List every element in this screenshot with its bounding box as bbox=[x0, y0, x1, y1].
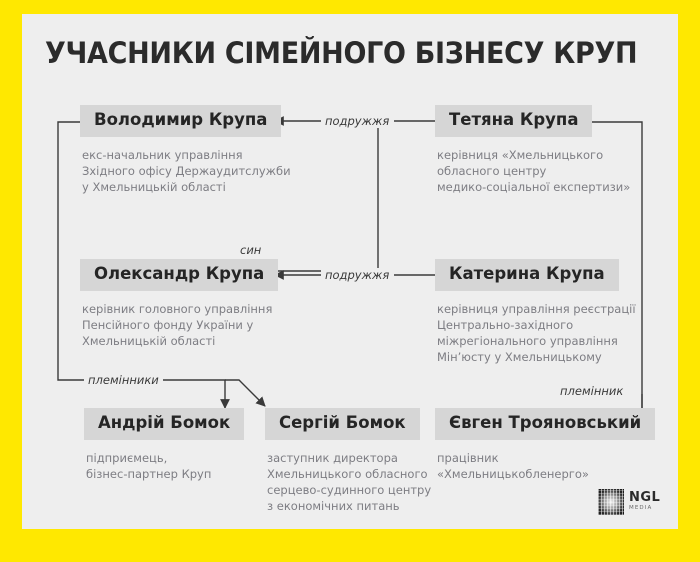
node-desc-volodymyr: екс-начальник управління Зхідного офісу … bbox=[80, 147, 310, 196]
node-desc-oleksandr: керівник головного управління Пенсійного… bbox=[80, 301, 310, 350]
edge-label-nephew: племінник bbox=[556, 384, 627, 398]
edge-nephews-andriy bbox=[157, 380, 225, 408]
edge-nephews-serhiy bbox=[225, 380, 265, 406]
node-desc-andriy: підприємець, бізнес-партнер Круп bbox=[84, 450, 259, 483]
node-kateryna[interactable]: Катерина Крупа керівниця управління реєс… bbox=[435, 259, 665, 366]
node-name-kateryna: Катерина Крупа bbox=[435, 259, 619, 291]
ngl-logo-mark-icon bbox=[598, 489, 624, 515]
ngl-logo-name: NGL bbox=[629, 491, 660, 504]
edge-label-nephews: племінники bbox=[84, 373, 163, 387]
page-title: УЧАСНИКИ СІМЕЙНОГО БІЗНЕСУ КРУП bbox=[45, 36, 637, 70]
node-name-oleksandr: Олександр Крупа bbox=[80, 259, 278, 291]
node-desc-tetyana: керівниця «Хмельницького обласного центр… bbox=[435, 147, 660, 196]
node-name-tetyana: Тетяна Крупа bbox=[435, 105, 592, 137]
edge-label-son: син bbox=[236, 243, 265, 257]
node-serhiy[interactable]: Сергій Бомок заступник директора Хмельни… bbox=[265, 408, 445, 515]
ngl-logo-text: NGL MEDIA bbox=[629, 491, 660, 512]
edge-label-spouse-mid: подружжя bbox=[321, 268, 393, 282]
node-name-andriy: Андрій Бомок bbox=[84, 408, 244, 440]
ngl-media-logo: NGL MEDIA bbox=[598, 489, 662, 515]
node-yevhen[interactable]: Євген Трояновський працівник «Хмельницьк… bbox=[435, 408, 640, 482]
node-andriy[interactable]: Андрій Бомок підприємець, бізнес-партнер… bbox=[84, 408, 259, 482]
node-tetyana[interactable]: Тетяна Крупа керівниця «Хмельницького об… bbox=[435, 105, 660, 195]
node-name-serhiy: Сергій Бомок bbox=[265, 408, 420, 440]
node-name-volodymyr: Володимир Крупа bbox=[80, 105, 281, 137]
node-name-yevhen: Євген Трояновський bbox=[435, 408, 655, 440]
node-volodymyr[interactable]: Володимир Крупа екс-начальник управління… bbox=[80, 105, 310, 195]
node-oleksandr[interactable]: Олександр Крупа керівник головного управ… bbox=[80, 259, 310, 349]
node-desc-yevhen: працівник «Хмельницькобленерго» bbox=[435, 450, 640, 483]
node-desc-serhiy: заступник директора Хмельницького обласн… bbox=[265, 450, 445, 515]
node-desc-kateryna: керівниця управління реєстрації Централь… bbox=[435, 301, 665, 366]
ngl-logo-sub: MEDIA bbox=[629, 506, 660, 512]
infographic-canvas: УЧАСНИКИ СІМЕЙНОГО БІЗНЕСУ КРУП подруж bbox=[22, 14, 678, 529]
edge-label-spouse-top: подружжя bbox=[321, 114, 393, 128]
